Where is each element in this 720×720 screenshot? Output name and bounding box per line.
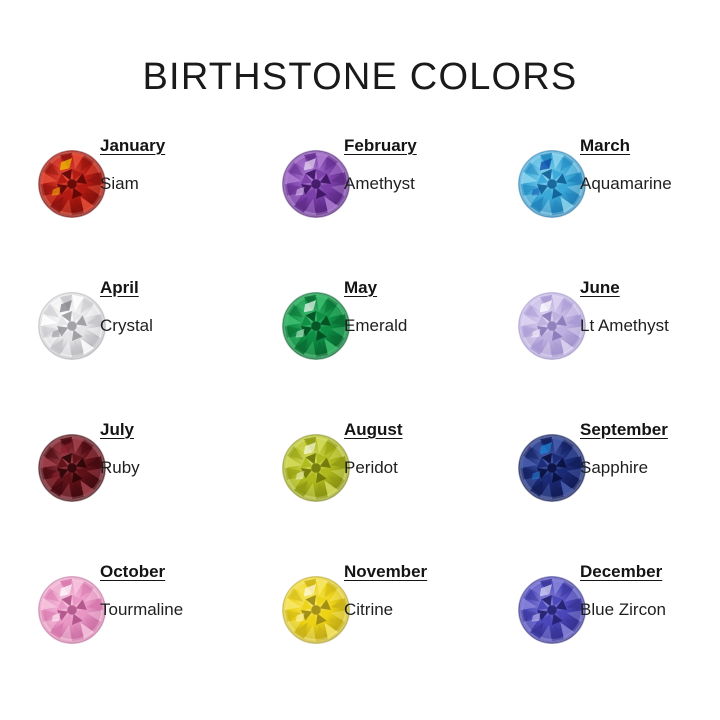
birthstone-cell-november: NovemberCitrine [238, 562, 476, 704]
month-label: June [580, 278, 669, 298]
stone-name-label: Sapphire [580, 458, 668, 478]
stone-name-label: Crystal [100, 316, 153, 336]
round-brilliant-gem-icon [282, 576, 350, 644]
birthstone-cell-september: SeptemberSapphire [476, 420, 720, 562]
birthstone-labels: JanuarySiam [100, 136, 165, 194]
birthstone-labels: NovemberCitrine [344, 562, 427, 620]
birthstone-cell-february: FebruaryAmethyst [238, 136, 476, 278]
month-label: August [344, 420, 403, 440]
birthstone-cell-august: AugustPeridot [238, 420, 476, 562]
birthstone-labels: MayEmerald [344, 278, 407, 336]
round-brilliant-gem-icon [518, 434, 586, 502]
birthstone-labels: AprilCrystal [100, 278, 153, 336]
round-brilliant-gem-icon [282, 434, 350, 502]
month-label: September [580, 420, 668, 440]
birthstone-cell-april: AprilCrystal [0, 278, 238, 420]
birthstone-cell-june: JuneLt Amethyst [476, 278, 720, 420]
month-label: January [100, 136, 165, 156]
birthstone-labels: MarchAquamarine [580, 136, 672, 194]
round-brilliant-gem-icon [38, 434, 106, 502]
month-label: April [100, 278, 153, 298]
stone-name-label: Emerald [344, 316, 407, 336]
month-label: December [580, 562, 666, 582]
birthstone-colors-page: BIRTHSTONE COLORS JanuarySiamFebruaryAme… [0, 0, 720, 720]
month-label: February [344, 136, 417, 156]
birthstone-cell-december: DecemberBlue Zircon [476, 562, 720, 704]
round-brilliant-gem-icon [282, 150, 350, 218]
stone-name-label: Siam [100, 174, 165, 194]
stone-name-label: Peridot [344, 458, 403, 478]
stone-name-label: Lt Amethyst [580, 316, 669, 336]
round-brilliant-gem-icon [38, 292, 106, 360]
birthstone-cell-may: MayEmerald [238, 278, 476, 420]
month-label: July [100, 420, 140, 440]
stone-name-label: Tourmaline [100, 600, 183, 620]
round-brilliant-gem-icon [518, 150, 586, 218]
page-title: BIRTHSTONE COLORS [0, 56, 720, 99]
month-label: October [100, 562, 183, 582]
birthstone-labels: AugustPeridot [344, 420, 403, 478]
birthstone-cell-july: JulyRuby [0, 420, 238, 562]
birthstone-labels: JulyRuby [100, 420, 140, 478]
birthstone-labels: JuneLt Amethyst [580, 278, 669, 336]
stone-name-label: Amethyst [344, 174, 417, 194]
round-brilliant-gem-icon [518, 576, 586, 644]
month-label: March [580, 136, 672, 156]
birthstone-cell-october: OctoberTourmaline [0, 562, 238, 704]
month-label: November [344, 562, 427, 582]
stone-name-label: Ruby [100, 458, 140, 478]
stone-name-label: Citrine [344, 600, 427, 620]
round-brilliant-gem-icon [518, 292, 586, 360]
round-brilliant-gem-icon [282, 292, 350, 360]
birthstone-labels: SeptemberSapphire [580, 420, 668, 478]
round-brilliant-gem-icon [38, 150, 106, 218]
birthstone-cell-january: JanuarySiam [0, 136, 238, 278]
birthstone-grid: JanuarySiamFebruaryAmethystMarchAquamari… [0, 136, 720, 704]
stone-name-label: Blue Zircon [580, 600, 666, 620]
stone-name-label: Aquamarine [580, 174, 672, 194]
birthstone-labels: DecemberBlue Zircon [580, 562, 666, 620]
birthstone-labels: OctoberTourmaline [100, 562, 183, 620]
month-label: May [344, 278, 407, 298]
round-brilliant-gem-icon [38, 576, 106, 644]
birthstone-labels: FebruaryAmethyst [344, 136, 417, 194]
birthstone-cell-march: MarchAquamarine [476, 136, 720, 278]
